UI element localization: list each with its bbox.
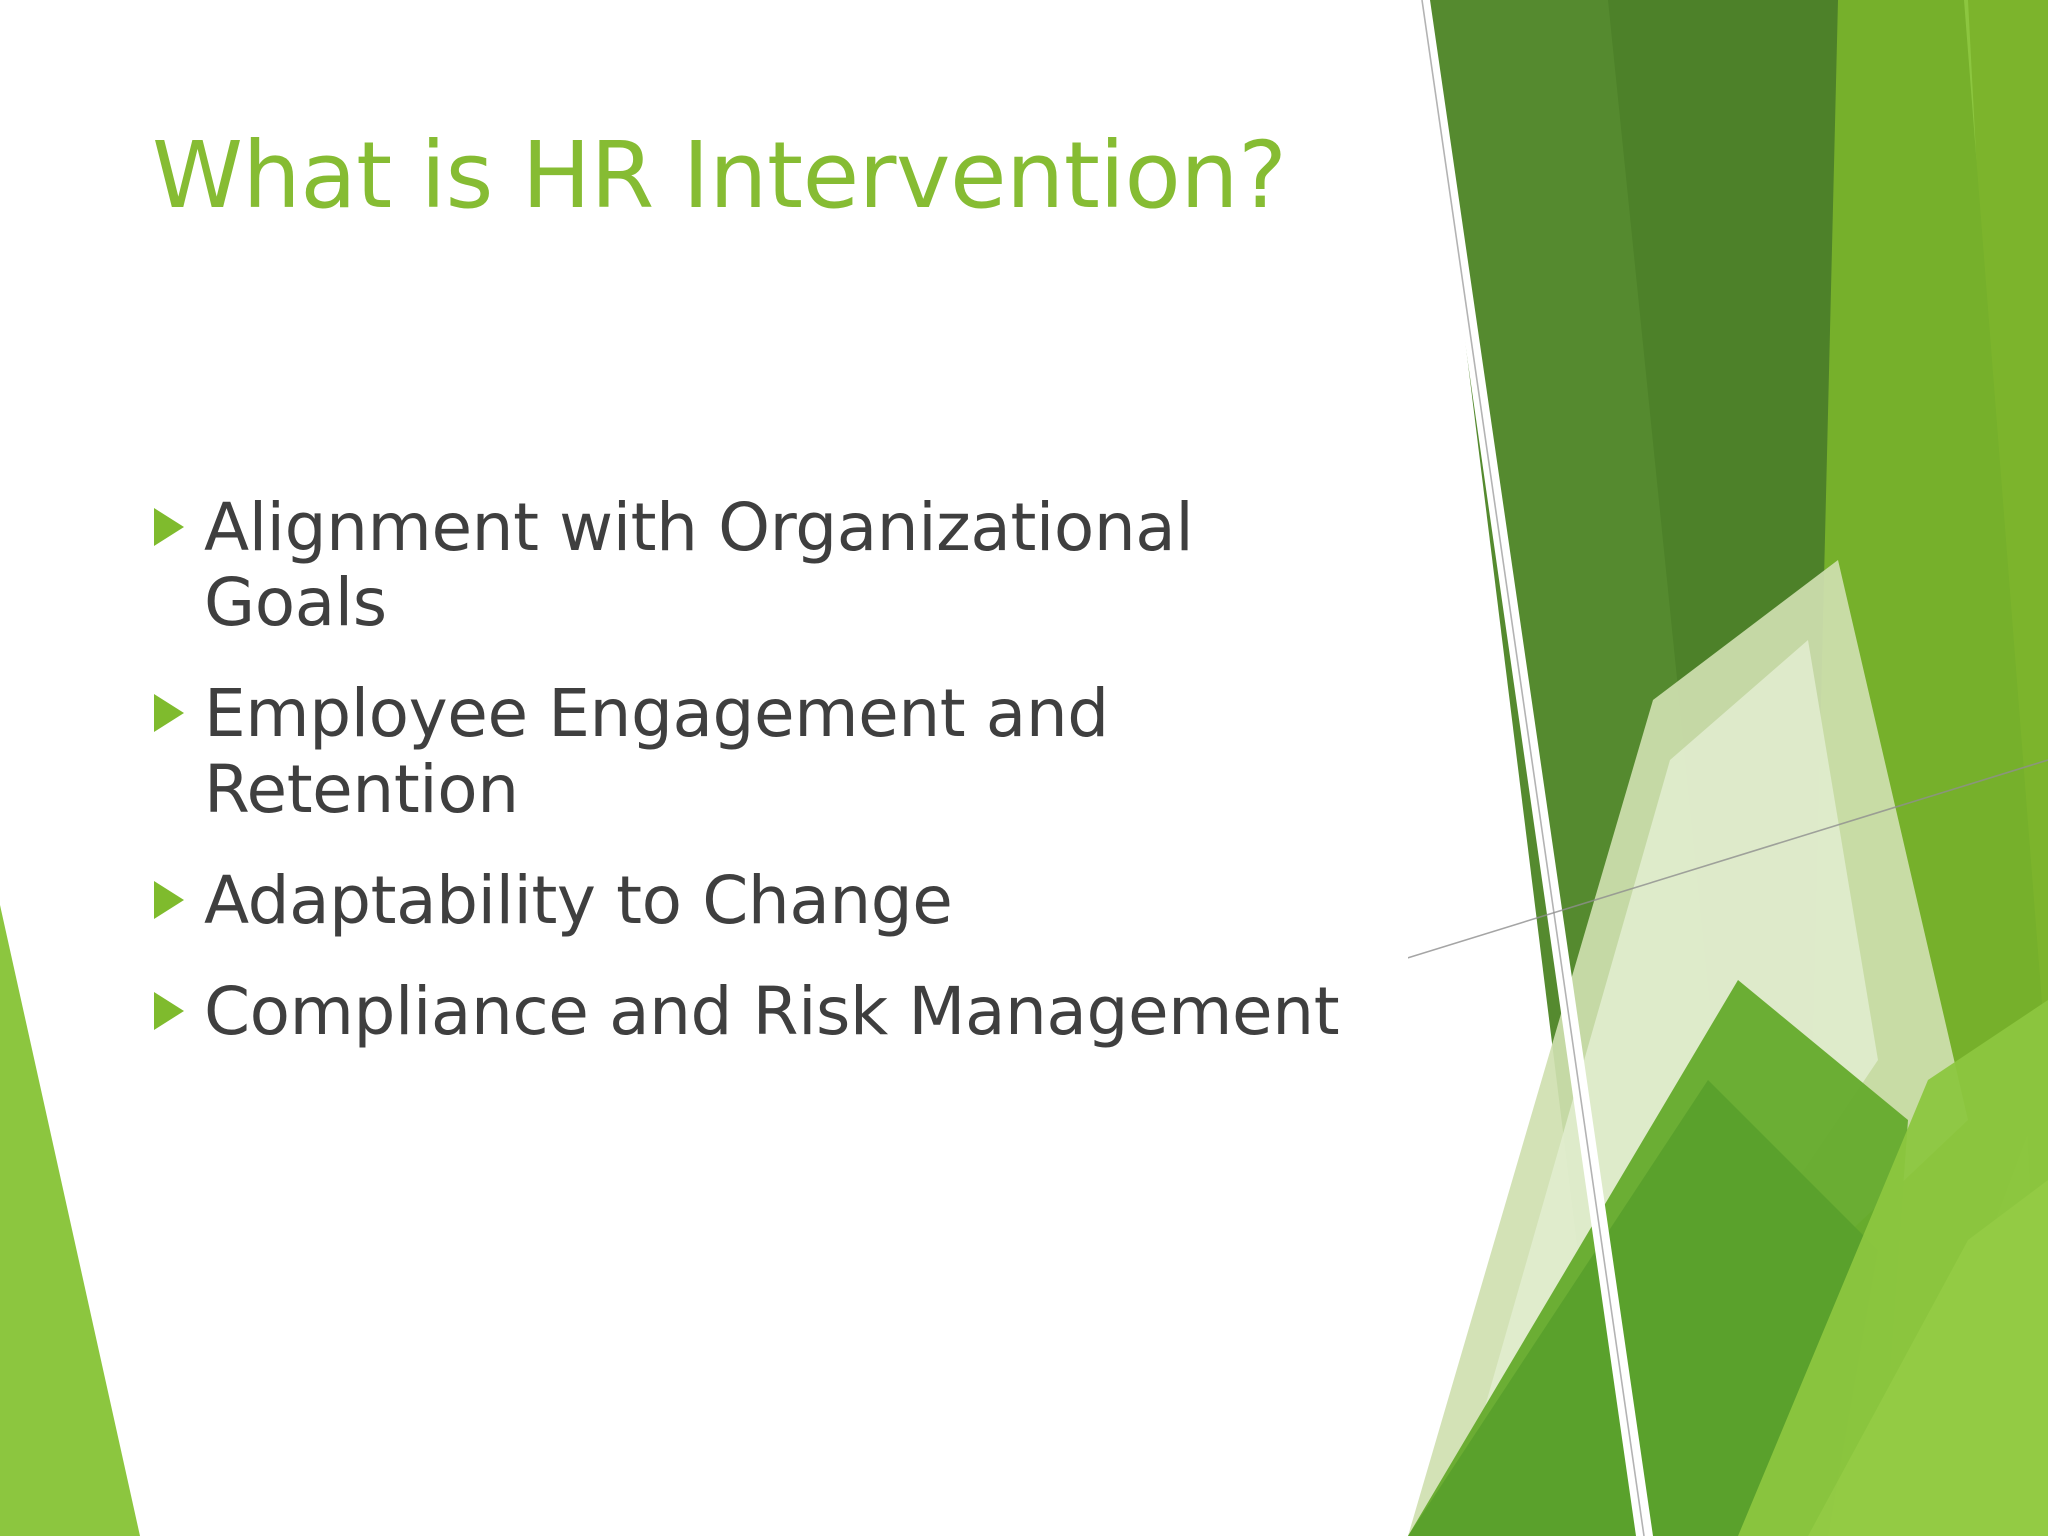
- list-item: Employee Engagement and Retention: [152, 676, 1542, 826]
- list-item: Adaptability to Change: [152, 863, 1542, 938]
- list-item-label: Adaptability to Change: [204, 863, 1542, 938]
- triangle-right-icon: [152, 506, 186, 550]
- list-item-label: Employee Engagement and Retention: [204, 676, 1274, 826]
- triangle-right-icon: [152, 692, 186, 736]
- page-title: What is HR Intervention?: [152, 128, 1412, 225]
- list-item: Compliance and Risk Management: [152, 974, 1542, 1049]
- bullet-list: Alignment with Organizational Goals Empl…: [152, 490, 1542, 1049]
- list-item-label: Alignment with Organizational Goals: [204, 490, 1374, 640]
- triangle-right-icon: [152, 879, 186, 923]
- list-item-label: Compliance and Risk Management: [204, 974, 1542, 1049]
- slide-canvas: What is HR Intervention? Alignment with …: [0, 0, 2048, 1536]
- list-item: Alignment with Organizational Goals: [152, 490, 1542, 640]
- title-block: What is HR Intervention?: [152, 128, 1412, 225]
- triangle-right-icon: [152, 990, 186, 1034]
